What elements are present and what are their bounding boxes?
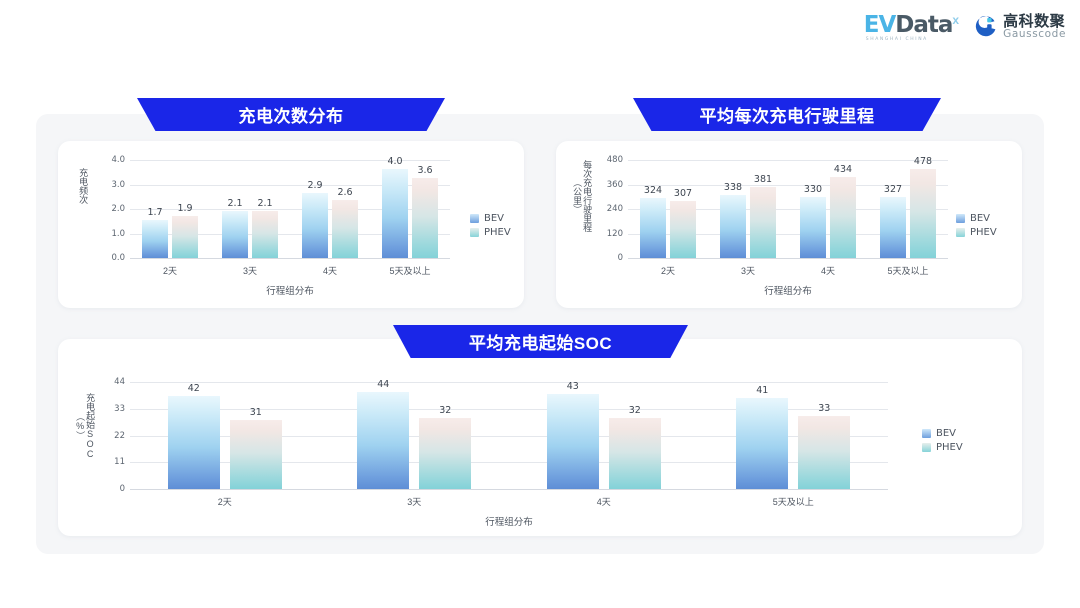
y-axis-label-line2: （公里）	[572, 160, 582, 232]
y-axis-tick: 240	[607, 204, 623, 214]
bar-value-label: 478	[914, 156, 932, 167]
x-axis-label: 行程组分布	[764, 283, 812, 297]
bar-value-label: 44	[377, 379, 389, 390]
x-axis-tick: 2天	[661, 264, 675, 277]
x-axis-tick: 5天及以上	[773, 495, 814, 508]
x-axis-tick: 4天	[323, 264, 337, 277]
bar-value-label: 3.6	[417, 165, 432, 176]
bar-value-label: 330	[804, 184, 822, 195]
y-axis-tick: 33	[114, 404, 125, 414]
y-axis-tick: 2.0	[111, 204, 125, 214]
y-axis-tick: 360	[607, 180, 623, 190]
bar-value-label: 2.1	[227, 198, 242, 209]
slide-root: EVDatax SHANGHAI CHINA 高科数聚 Gausscode 充电…	[0, 0, 1080, 608]
legend-item-bev[interactable]: BEV	[922, 428, 963, 439]
chart-title-banner-1: 充电次数分布	[137, 98, 445, 131]
bar-phev	[670, 201, 696, 258]
chart-legend: BEVPHEV	[470, 213, 511, 238]
evdata-logo: EVDatax SHANGHAI CHINA	[864, 12, 959, 42]
bar-value-label: 434	[834, 164, 852, 175]
bar-phev	[798, 416, 850, 489]
x-axis-tick: 3天	[407, 495, 421, 508]
x-axis-line	[628, 258, 948, 259]
bar-value-label: 32	[629, 405, 641, 416]
bar-phev	[910, 169, 936, 258]
legend-swatch-bev	[956, 214, 965, 223]
evdata-logo-superscript: x	[952, 13, 959, 27]
legend-swatch-bev	[470, 214, 479, 223]
bar-bev	[880, 197, 906, 258]
bar-bev	[302, 193, 328, 258]
y-axis-tick: 1.0	[111, 229, 125, 239]
legend-label-bev: BEV	[484, 213, 504, 224]
y-axis-label-line2: （%）	[75, 393, 85, 459]
legend-swatch-phev	[470, 228, 479, 237]
y-axis-label: 充电频次	[78, 168, 88, 204]
bar-value-label: 4.0	[387, 156, 402, 167]
bar-value-label: 42	[188, 383, 200, 394]
legend-label-bev: BEV	[936, 428, 956, 439]
evdata-logo-subtitle: SHANGHAI CHINA	[864, 37, 928, 42]
bar-phev	[750, 187, 776, 258]
gausscode-mark-icon	[973, 14, 998, 39]
chart-legend: BEVPHEV	[922, 428, 963, 453]
chart-title-1: 充电次数分布	[239, 102, 344, 127]
bar-value-label: 41	[756, 385, 768, 396]
bar-bev	[168, 396, 220, 489]
bar-phev	[172, 216, 198, 258]
y-axis-tick: 4.0	[111, 155, 125, 165]
y-axis-tick: 0	[120, 484, 125, 494]
bar-value-label: 33	[818, 403, 830, 414]
x-axis-label: 行程组分布	[485, 514, 533, 528]
y-axis-label: 充电起始SOC（%）	[75, 393, 95, 459]
bar-value-label: 1.9	[177, 203, 192, 214]
x-axis-tick: 5天及以上	[887, 264, 928, 277]
chart-title-banner-3: 平均充电起始SOC	[393, 325, 688, 358]
chart-title-2: 平均每次充电行驶里程	[700, 102, 875, 127]
y-axis-label-line1: 充电频次	[78, 168, 88, 204]
x-axis-tick: 2天	[163, 264, 177, 277]
bar-phev	[609, 418, 661, 489]
y-axis-tick: 11	[114, 457, 125, 467]
bar-value-label: 338	[724, 182, 742, 193]
gausscode-logo-cn: 高科数聚	[1003, 14, 1066, 30]
chart-legend: BEVPHEV	[956, 213, 997, 238]
bar-bev	[142, 220, 168, 258]
chart-title-banner-2: 平均每次充电行驶里程	[633, 98, 941, 131]
x-axis-line	[130, 489, 888, 490]
y-axis-tick: 120	[607, 229, 623, 239]
legend-label-bev: BEV	[970, 213, 990, 224]
bar-bev	[382, 169, 408, 258]
gausscode-logo: 高科数聚 Gausscode	[973, 14, 1066, 41]
legend-item-phev[interactable]: PHEV	[470, 227, 511, 238]
chart-2: 每次充电行驶里程（公里）48036024012003243072天3383813…	[556, 141, 1022, 308]
bar-value-label: 2.9	[307, 180, 322, 191]
bar-value-label: 327	[884, 184, 902, 195]
bar-bev	[720, 195, 746, 258]
chart-3: 充电起始SOC（%）44332211042312天44323天43324天413…	[58, 339, 1022, 536]
legend-label-phev: PHEV	[484, 227, 511, 238]
bar-bev	[640, 198, 666, 258]
bar-value-label: 43	[567, 381, 579, 392]
x-axis-label: 行程组分布	[266, 283, 314, 297]
grid-line	[628, 160, 948, 161]
x-axis-line	[130, 258, 450, 259]
legend-label-phev: PHEV	[936, 442, 963, 453]
y-axis-tick: 0.0	[111, 253, 125, 263]
x-axis-tick: 4天	[597, 495, 611, 508]
legend-swatch-phev	[956, 228, 965, 237]
x-axis-tick: 3天	[243, 264, 257, 277]
x-axis-tick: 2天	[218, 495, 232, 508]
bar-phev	[230, 420, 282, 489]
bar-bev	[800, 197, 826, 258]
chart-1: 充电频次4.03.02.01.00.01.71.92天2.12.13天2.92.…	[58, 141, 524, 308]
y-axis-tick: 0	[618, 253, 623, 263]
bar-bev	[357, 392, 409, 489]
bar-value-label: 2.6	[337, 187, 352, 198]
bar-phev	[419, 418, 471, 489]
evdata-logo-data: Data	[895, 12, 952, 38]
y-axis-tick: 44	[114, 377, 125, 387]
bar-phev	[412, 178, 438, 258]
bar-bev	[736, 398, 788, 489]
bar-value-label: 307	[674, 188, 692, 199]
x-axis-tick: 4天	[821, 264, 835, 277]
legend-item-bev[interactable]: BEV	[956, 213, 997, 224]
bar-value-label: 1.7	[147, 207, 162, 218]
x-axis-tick: 5天及以上	[389, 264, 430, 277]
x-axis-tick: 3天	[741, 264, 755, 277]
y-axis-label-line1: 充电起始SOC	[85, 393, 95, 459]
y-axis-tick: 22	[114, 431, 125, 441]
bar-value-label: 2.1	[257, 198, 272, 209]
chart-title-3: 平均充电起始SOC	[469, 329, 612, 354]
y-axis-tick: 480	[607, 155, 623, 165]
bar-value-label: 31	[250, 407, 262, 418]
header-logos: EVDatax SHANGHAI CHINA 高科数聚 Gausscode	[864, 12, 1066, 42]
legend-item-bev[interactable]: BEV	[470, 213, 511, 224]
bar-value-label: 32	[439, 405, 451, 416]
y-axis-label: 每次充电行驶里程（公里）	[572, 160, 592, 232]
gausscode-logo-en: Gausscode	[1003, 29, 1066, 40]
legend-item-phev[interactable]: PHEV	[956, 227, 997, 238]
bar-bev	[547, 394, 599, 489]
legend-label-phev: PHEV	[970, 227, 997, 238]
bar-value-label: 381	[754, 174, 772, 185]
bar-bev	[222, 211, 248, 258]
y-axis-label-line1: 每次充电行驶里程	[582, 160, 592, 232]
bar-phev	[252, 211, 278, 258]
bar-value-label: 324	[644, 185, 662, 196]
y-axis-tick: 3.0	[111, 180, 125, 190]
legend-swatch-bev	[922, 429, 931, 438]
bar-phev	[830, 177, 856, 258]
evdata-logo-ev: EV	[864, 12, 896, 38]
legend-item-phev[interactable]: PHEV	[922, 442, 963, 453]
bar-phev	[332, 200, 358, 258]
grid-line	[130, 382, 888, 383]
legend-swatch-phev	[922, 443, 931, 452]
